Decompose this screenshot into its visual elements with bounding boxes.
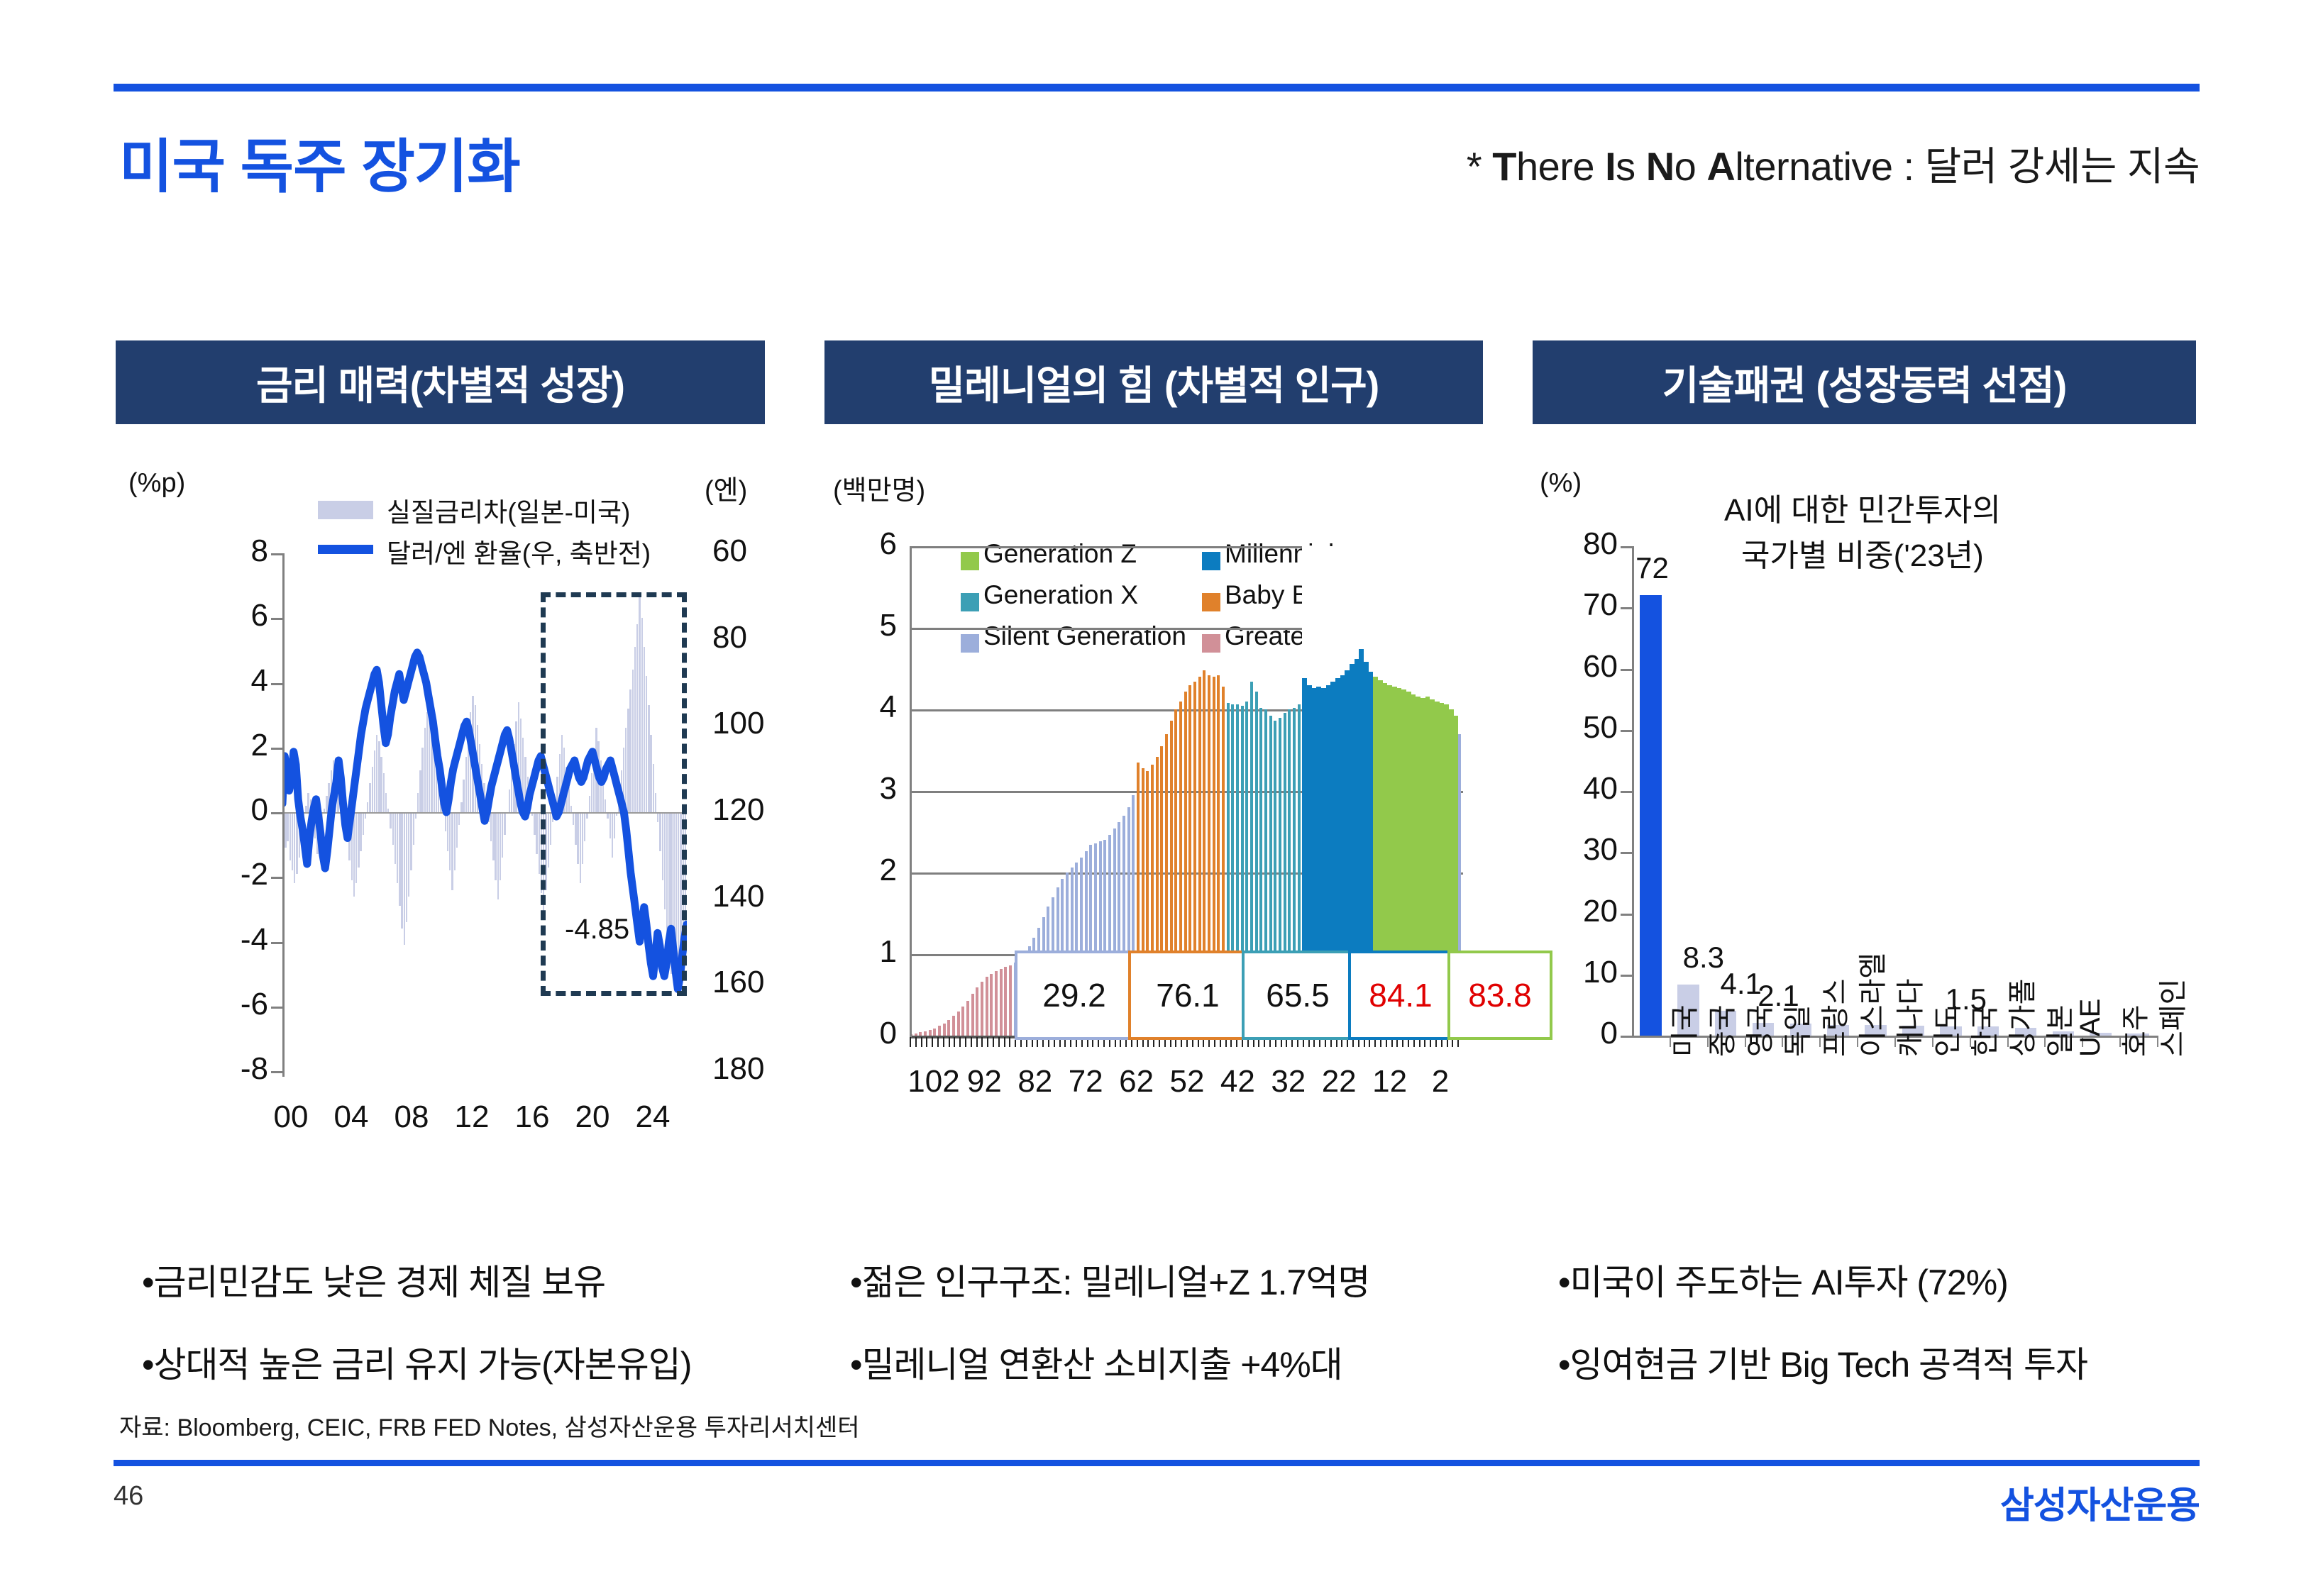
chart1-ytick-right: 80	[712, 620, 805, 655]
chart1-ytick-left: 6	[155, 598, 268, 633]
chart3-title-line1: AI에 대한 민간투자의	[1724, 488, 2001, 533]
footer-rule	[114, 1460, 2200, 1466]
chart-ai-investment-share: (%) AI에 대한 민간투자의 국가별 비중('23년) 0102030405…	[1533, 468, 2203, 1220]
chart3-ytick-mark	[1621, 730, 1632, 732]
chart2-minor-tick	[932, 1037, 933, 1047]
bullet-list-panel-1: 금리민감도 낮은 경제 체질 보유상대적 높은 금리 유지 가능(자본유입)	[142, 1254, 691, 1419]
chart3-category-label: 스페인	[2150, 979, 2191, 1057]
chart1-ytick-right: 160	[712, 965, 805, 1000]
chart2-bar	[929, 1030, 932, 1036]
bullet-list-panel-2: 젊은 인구구조: 밀레니얼+Z 1.7억명밀레니얼 연환산 소비지출 +4%대	[850, 1254, 1369, 1419]
chart-us-population-generations: (백만명) Generation Z Millennials Generatio…	[824, 468, 1491, 1220]
chart1-ytick-left: -6	[155, 987, 268, 1022]
chart2-ytick: 1	[832, 934, 897, 970]
chart1-ytick-right: 140	[712, 879, 805, 914]
chart2-bar	[971, 994, 974, 1036]
chart1-ytick-mark-left	[271, 1071, 282, 1073]
chart1-ytick-mark-left	[271, 748, 282, 750]
chart3-ytick: 60	[1540, 649, 1618, 685]
chart2-ytick: 3	[832, 771, 897, 807]
chart2-minor-tick	[910, 1037, 911, 1047]
chart2-minor-tick	[943, 1037, 944, 1047]
chart2-ytick: 6	[832, 526, 897, 562]
bullet-list-panel-3: 미국이 주도하는 AI투자 (72%)잉여현금 기반 Big Tech 공격적 …	[1558, 1254, 2087, 1419]
chart3-category-label: 일본	[2037, 1004, 2078, 1057]
chart1-xtick: 24	[617, 1099, 688, 1135]
chart1-ytick-mark-left	[271, 618, 282, 620]
chart1-ytick-mark-left	[271, 683, 282, 685]
chart3-ytick: 50	[1540, 710, 1618, 746]
bullet-item: 금리민감도 낮은 경제 체질 보유	[142, 1254, 691, 1305]
chart2-minor-tick	[998, 1037, 1000, 1047]
chart2-bar	[933, 1029, 936, 1036]
page-subtitle: * There Is No Alternative : 달러 강세는 지속	[1467, 135, 2200, 192]
chart3-category-label: 프랑스	[1812, 979, 1853, 1057]
chart2-minor-tick	[1004, 1037, 1005, 1047]
chart2-ytick: 4	[832, 689, 897, 725]
chart3-bar	[1640, 595, 1662, 1036]
chart1-plot-area: -4.85	[282, 553, 687, 1071]
chart3-ytick-mark	[1621, 914, 1632, 916]
chart1-legend-bar-label: 실질금리차(일본-미국)	[387, 491, 630, 529]
chart1-ytick-mark-left	[271, 877, 282, 879]
chart2-minor-tick	[937, 1037, 939, 1047]
chart2-bar	[943, 1024, 946, 1036]
panel-header-2: 밀레니얼의 힘 (차별적 인구)	[824, 340, 1483, 424]
chart2-group-total-box: 84.1	[1348, 951, 1453, 1040]
chart2-bar	[947, 1020, 950, 1036]
chart1-ytick-right: 60	[712, 533, 805, 569]
chart2-bar	[924, 1031, 927, 1036]
chart3-category-label: 이스라엘	[1850, 953, 1891, 1057]
chart2-minor-tick	[954, 1037, 955, 1047]
chart3-ytick: 40	[1540, 771, 1618, 807]
subtitle-asterisk: *	[1467, 144, 1492, 189]
chart2-minor-tick	[1009, 1037, 1010, 1047]
chart2-bar	[995, 971, 998, 1036]
chart3-category-label: 중국	[1699, 1004, 1740, 1057]
chart2-group-total-box: 76.1	[1128, 951, 1247, 1040]
chart2-minor-tick	[949, 1037, 950, 1047]
chart3-ytick-mark	[1621, 975, 1632, 977]
chart3-category-label: 싱가폴	[1999, 979, 2041, 1057]
page-number: 46	[114, 1481, 143, 1512]
chart2-bar	[919, 1032, 922, 1036]
chart2-minor-tick	[971, 1037, 972, 1047]
chart2-xtick: 2	[1398, 1064, 1483, 1099]
bullet-item: 잉여현금 기반 Big Tech 공격적 투자	[1558, 1336, 2087, 1387]
chart2-bar	[1000, 969, 1003, 1036]
chart1-ytick-left: 0	[155, 792, 268, 828]
chart2-minor-tick	[926, 1037, 927, 1047]
header-rule	[114, 84, 2200, 92]
chart1-ytick-left: 8	[155, 533, 268, 569]
chart3-ytick-mark	[1621, 546, 1632, 548]
panel-header-1: 금리 매력(차별적 성장)	[116, 340, 765, 424]
chart2-bar	[1009, 965, 1012, 1036]
chart3-value-label: 1.5	[1946, 982, 1987, 1016]
chart3-category-label: UAE	[2075, 999, 2107, 1057]
chart1-left-unit: (%p)	[128, 468, 185, 499]
chart3-ytick: 0	[1540, 1016, 1618, 1051]
chart2-bar	[990, 974, 993, 1036]
chart1-ytick-left: -2	[155, 857, 268, 892]
chart2-bar	[957, 1012, 960, 1036]
chart1-right-unit: (엔)	[705, 468, 747, 507]
chart1-ytick-mark-left	[271, 553, 282, 555]
chart2-minor-tick	[987, 1037, 988, 1047]
chart1-annotation-value: -4.85	[565, 914, 629, 946]
chart3-ytick-mark	[1621, 607, 1632, 609]
chart2-ytick: 2	[832, 853, 897, 888]
slide: 미국 독주 장기화 * There Is No Alternative : 달러…	[0, 0, 2306, 1596]
chart2-group-total-box: 29.2	[1015, 951, 1134, 1040]
chart1-ytick-left: -4	[155, 922, 268, 958]
chart3-yaxis-line	[1632, 546, 1634, 1037]
chart2-yaxis-line	[910, 546, 912, 1037]
chart2-bar	[961, 1007, 964, 1036]
chart2-minor-tick	[959, 1037, 961, 1047]
chart2-bar	[938, 1026, 941, 1036]
chart3-unit: (%)	[1540, 468, 1582, 499]
chart3-value-label: 72	[1635, 551, 1669, 585]
chart3-ytick: 20	[1540, 894, 1618, 929]
chart2-bar	[966, 1001, 969, 1036]
chart1-ytick-left: 2	[155, 728, 268, 763]
chart2-minor-tick	[993, 1037, 994, 1047]
chart1-ytick-right: 180	[712, 1051, 805, 1087]
chart2-unit: (백만명)	[833, 468, 925, 507]
chart3-ytick-mark	[1621, 791, 1632, 793]
chart1-ytick-mark-left	[271, 1007, 282, 1009]
chart2-ytick: 5	[832, 608, 897, 643]
chart3-value-label: 8.3	[1683, 941, 1724, 975]
bullet-item: 밀레니얼 연환산 소비지출 +4%대	[850, 1336, 1369, 1387]
chart2-mask	[1458, 546, 1463, 734]
chart-rate-gap-usdjpy: (%p) (엔) 실질금리차(일본-미국) 달러/엔 환율(우, 축반전) 86…	[116, 468, 776, 1220]
chart3-value-label: 4.1	[1721, 967, 1762, 1001]
chart3-ytick-mark	[1621, 1036, 1632, 1038]
chart1-ytick-right: 120	[712, 792, 805, 828]
chart3-ytick: 80	[1540, 526, 1618, 562]
chart2-minor-tick	[976, 1037, 978, 1047]
chart1-legend-bar-swatch	[318, 501, 373, 519]
chart1-ytick-right: 100	[712, 706, 805, 741]
chart2-minor-tick	[915, 1037, 917, 1047]
source-note: 자료: Bloomberg, CEIC, FRB FED Notes, 삼성자산…	[119, 1408, 860, 1443]
chart1-ytick-mark-left	[271, 812, 282, 814]
chart2-minor-tick	[921, 1037, 922, 1047]
chart2-bar	[1004, 967, 1007, 1036]
chart2-bar	[915, 1033, 917, 1036]
chart3-category-label: 호주	[2112, 1004, 2153, 1057]
chart1-ytick-left: -8	[155, 1051, 268, 1087]
chart1-ytick-left: 4	[155, 663, 268, 699]
chart3-ytick-mark	[1621, 669, 1632, 671]
chart2-minor-tick	[981, 1037, 983, 1047]
chart3-ytick: 70	[1540, 587, 1618, 623]
company-logo: 삼성자산운용	[2000, 1475, 2200, 1529]
chart3-category-label: 미국	[1662, 1004, 1703, 1057]
chart3-ytick: 10	[1540, 955, 1618, 990]
bullet-item: 상대적 높은 금리 유지 가능(자본유입)	[142, 1336, 691, 1387]
chart3-value-label: 2.1	[1758, 979, 1799, 1013]
page-title: 미국 독주 장기화	[119, 119, 520, 204]
chart2-bar	[981, 982, 983, 1036]
chart2-bar	[952, 1016, 955, 1036]
chart3-category-label: 캐나다	[1887, 979, 1929, 1057]
chart2-ytick: 0	[832, 1016, 897, 1051]
chart3-ytick-mark	[1621, 852, 1632, 854]
bullet-item: 젊은 인구구조: 밀레니얼+Z 1.7억명	[850, 1254, 1369, 1305]
chart2-minor-tick	[965, 1037, 966, 1047]
chart1-ytick-mark-left	[271, 942, 282, 944]
chart2-group-total-box: 65.5	[1242, 951, 1354, 1040]
panel-header-3: 기술패권 (성장동력 선점)	[1533, 340, 2196, 424]
chart2-bar	[976, 987, 978, 1036]
chart3-ytick: 30	[1540, 832, 1618, 868]
chart2-bar	[986, 977, 988, 1036]
chart1-yaxis-line	[282, 553, 285, 1077]
bullet-item: 미국이 주도하는 AI투자 (72%)	[1558, 1254, 2087, 1305]
